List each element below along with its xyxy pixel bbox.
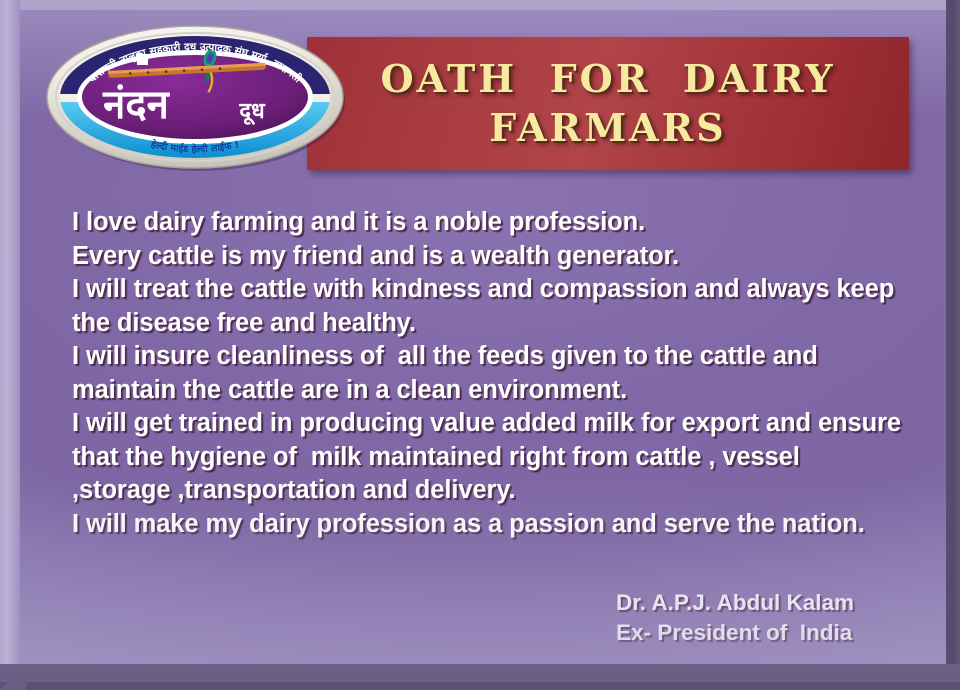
oath-line: I love dairy farming and it is a noble p… xyxy=(72,206,902,240)
frame-bevel-right xyxy=(946,0,960,690)
title-line-2: FARMARS xyxy=(489,104,726,153)
oath-line: I will make my dairy profession as a pas… xyxy=(72,508,902,542)
signature-block: Dr. A.P.J. Abdul Kalam Ex- President of … xyxy=(616,588,854,648)
title-banner: OATH FOR DAIRY FARMARS xyxy=(307,37,909,170)
nandan-dudh-logo: नंदन दूध बारामती तालुका सहकारी दूध उत्पा… xyxy=(40,22,350,172)
oath-line: Every cattle is my friend and is a wealt… xyxy=(72,240,902,274)
title-line-1: OATH FOR DAIRY xyxy=(380,55,835,104)
signature-designation: Ex- President of India xyxy=(616,618,854,648)
oath-text-block: I love dairy farming and it is a noble p… xyxy=(72,206,902,541)
frame-bevel-left xyxy=(0,0,20,690)
frame-bevel-corner-bottom-left xyxy=(0,664,26,690)
slide-header: नंदन दूध बारामती तालुका सहकारी दूध उत्पा… xyxy=(20,10,946,180)
frame-bevel-bottom-dark xyxy=(0,682,960,690)
logo-brand-main: नंदन xyxy=(102,82,170,128)
oath-line: I will insure cleanliness of all the fee… xyxy=(72,340,902,407)
slide-frame: नंदन दूध बारामती तालुका सहकारी दूध उत्पा… xyxy=(0,0,960,690)
slide-canvas: नंदन दूध बारामती तालुका सहकारी दूध उत्पा… xyxy=(20,10,946,664)
oath-line: I will treat the cattle with kindness an… xyxy=(72,273,902,340)
frame-bevel-top xyxy=(0,0,960,10)
oath-line: I will get trained in producing value ad… xyxy=(72,407,902,508)
logo-brand-sub: दूध xyxy=(238,99,266,126)
signature-name: Dr. A.P.J. Abdul Kalam xyxy=(616,588,854,618)
